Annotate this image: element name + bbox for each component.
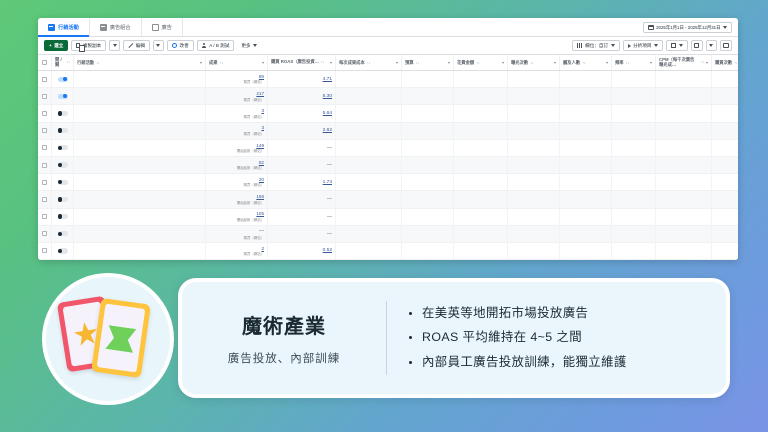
pencil-icon: [128, 43, 133, 48]
chevron-down-icon: [611, 44, 615, 47]
sort-icon[interactable]: ↑↓: [700, 60, 704, 64]
cell-result-type: 購買（網站）: [244, 182, 264, 187]
checkbox-icon[interactable]: [42, 248, 47, 253]
cell-results-value: —: [259, 228, 264, 234]
cell-roas: 5.64: [268, 105, 336, 121]
cell-impressions: [508, 105, 560, 121]
cell-results: 3購買（網站）: [206, 123, 268, 139]
cell-results: 89購買（網站）: [206, 71, 268, 87]
sort-icon[interactable]: ↑↓: [416, 61, 420, 65]
date-range-picker[interactable]: 2025年1月1日 - 2025年12月31日: [643, 22, 732, 33]
th-toggle[interactable]: 開 / 關 ↑↓: [52, 55, 74, 70]
th-toggle-label: 開 / 關: [55, 58, 64, 68]
cell-cost-per-result: [336, 71, 402, 87]
cell-budget: [402, 174, 454, 190]
sort-icon[interactable]: ↑↓: [476, 61, 480, 65]
columns-icon: [577, 43, 583, 48]
plus-icon: +: [49, 43, 52, 48]
cell-toggle[interactable]: [52, 243, 74, 259]
cell-result-type: 開始結帳（網站）: [237, 165, 264, 170]
cell-purchases: [712, 243, 738, 259]
case-study-title: 魔術產業: [192, 310, 376, 339]
copy-icon: [76, 43, 80, 48]
breakdown-icon: [628, 44, 631, 48]
cell-results-value[interactable]: 3: [261, 108, 264, 113]
cell-frequency: [612, 226, 656, 242]
cell-checkbox[interactable]: [38, 209, 52, 225]
table-row[interactable]: 3購買（網站）5.64: [38, 105, 738, 122]
sort-icon[interactable]: ↑↓: [530, 61, 534, 65]
cell-reach: [560, 191, 612, 207]
cell-purchases: [712, 71, 738, 87]
tab-campaigns[interactable]: 行銷活動: [38, 18, 90, 36]
more-label: 更多: [241, 43, 250, 49]
cell-cost-per-result: [336, 174, 402, 190]
breakdown-button[interactable]: 分析項目: [623, 40, 663, 51]
cell-cpm: [656, 243, 712, 259]
bullet-dot-icon: [409, 312, 412, 315]
bullet-text: ROAS 平均維持在 4~5 之間: [422, 328, 582, 347]
cell-campaign-name[interactable]: [74, 243, 206, 259]
bullet-text: 內部員工廣告投放訓練，能獨立維護: [422, 353, 627, 372]
cell-roas: 4.71: [268, 71, 336, 87]
cell-cost-per-result: [336, 140, 402, 156]
cell-budget: [402, 140, 454, 156]
magic-card-yellow-face: [97, 304, 146, 373]
cell-results: 20購買（網站）: [206, 174, 268, 190]
chevron-down-icon: [709, 44, 713, 47]
cell-roas-value[interactable]: 5.30: [323, 94, 332, 99]
cell-results-value[interactable]: 20: [259, 177, 264, 182]
cell-checkbox[interactable]: [38, 157, 52, 173]
cell-result-type: 購買（網站）: [244, 131, 264, 136]
th-cost-per-result-label: 每次成果成本: [339, 60, 365, 66]
table-row[interactable]: 105開始結帳（網站）—: [38, 209, 738, 226]
cell-result-type: 購買（網站）: [244, 235, 264, 240]
cell-spend: [454, 209, 508, 225]
cell-results-value[interactable]: 3: [261, 125, 264, 130]
cell-cost-per-result: [336, 243, 402, 259]
cell-impressions: [508, 123, 560, 139]
sort-icon[interactable]: ↑↓: [734, 61, 738, 65]
checkbox-icon[interactable]: [42, 214, 47, 219]
th-results[interactable]: 成果 ↑↓: [206, 55, 268, 70]
status-toggle[interactable]: [58, 214, 68, 219]
create-button[interactable]: + 建立: [44, 40, 68, 51]
th-results-label: 成果: [209, 60, 218, 66]
cell-budget: [402, 71, 454, 87]
cell-purchases: [712, 105, 738, 121]
th-campaign-name-label: 行銷活動: [77, 60, 94, 66]
cell-frequency: [612, 243, 656, 259]
cell-impressions: [508, 243, 560, 259]
chevron-down-icon: [113, 44, 117, 47]
cell-roas-value: —: [327, 145, 332, 151]
chevron-down-icon: [156, 44, 160, 47]
table-row[interactable]: 52開始結帳（網站）—: [38, 157, 738, 174]
status-toggle[interactable]: [58, 94, 68, 99]
th-purchases-label: 購買次數: [715, 60, 732, 66]
cell-purchases: [712, 123, 738, 139]
case-study-summary: 魔術產業 廣告投放、內部訓練: [182, 310, 386, 366]
cell-spend: [454, 71, 508, 87]
cell-spend: [454, 105, 508, 121]
cell-roas: 2.62: [268, 123, 336, 139]
cell-impressions: [508, 209, 560, 225]
cell-toggle[interactable]: [52, 105, 74, 121]
tab-ads-label: 廣告: [162, 24, 172, 31]
status-toggle[interactable]: [58, 128, 68, 133]
status-toggle[interactable]: [58, 180, 68, 185]
cell-result-type: 開始結帳（網站）: [237, 148, 264, 153]
cell-result-type: 購買（網站）: [244, 114, 264, 119]
cell-checkbox[interactable]: [38, 226, 52, 242]
cell-results: 3購買（網站）: [206, 105, 268, 121]
duplicate-label: 複製副本: [83, 43, 101, 49]
th-frequency[interactable]: 頻率 ↑↓: [612, 55, 656, 70]
checkbox-icon[interactable]: [42, 163, 47, 168]
tab-adsets[interactable]: 廣告組合: [90, 18, 142, 36]
edit-button[interactable]: 編輯: [123, 40, 150, 51]
six-point-star-icon: [105, 322, 137, 354]
table-row[interactable]: —購買（網站）—: [38, 226, 738, 243]
tab-adsets-label: 廣告組合: [110, 24, 131, 31]
cell-budget: [402, 243, 454, 259]
cell-frequency: [612, 105, 656, 121]
cell-roas: —: [268, 209, 336, 225]
cell-roas: 1.74: [268, 174, 336, 190]
adset-icon: [100, 24, 107, 31]
cell-result-type: 購買（網站）: [244, 251, 264, 256]
th-campaign-name[interactable]: 行銷活動 ↑↓: [74, 55, 206, 70]
cell-reach: [560, 157, 612, 173]
magic-cards-icon: [46, 277, 170, 401]
cell-cost-per-result: [336, 88, 402, 104]
th-frequency-label: 頻率: [615, 60, 624, 66]
tab-bar: 行銷活動 廣告組合 廣告 2025年1月1日 - 2025年12月31日: [38, 18, 738, 37]
case-study-card: 魔術產業 廣告投放、內部訓練 在美英等地開拓市場投放廣告ROAS 平均維持在 4…: [178, 278, 730, 398]
cell-purchases: [712, 191, 738, 207]
tab-campaigns-label: 行銷活動: [58, 24, 79, 31]
cell-results: 217購買（網站）: [206, 88, 268, 104]
th-cpm[interactable]: CPM（每千次廣告曝光成… ↑↓: [656, 55, 712, 70]
cell-roas: —: [268, 157, 336, 173]
cell-results-value[interactable]: 156: [256, 194, 264, 199]
cell-spend: [454, 243, 508, 259]
chevron-down-icon[interactable]: [606, 62, 608, 64]
improve-button[interactable]: 改善: [167, 40, 194, 51]
cell-toggle[interactable]: [52, 123, 74, 139]
cell-roas: —: [268, 140, 336, 156]
cell-impressions: [508, 88, 560, 104]
cell-roas-value: —: [327, 231, 332, 237]
cell-campaign-name[interactable]: [74, 174, 206, 190]
chevron-down-icon[interactable]: [200, 62, 202, 64]
chevron-down-icon: [723, 26, 727, 29]
more-button[interactable]: 更多: [237, 40, 261, 51]
th-impressions-label: 曝光次數: [511, 60, 528, 66]
cell-cost-per-result: [336, 226, 402, 242]
cell-campaign-name[interactable]: [74, 209, 206, 225]
table-header-row: 開 / 關 ↑↓ 行銷活動 ↑↓ 成果 ↑↓ 購買 ROAS（廣告投資… ↑↓ …: [38, 55, 738, 71]
checkbox-icon[interactable]: [42, 128, 47, 133]
cell-campaign-name[interactable]: [74, 105, 206, 121]
table-row[interactable]: 20購買（網站）1.74: [38, 174, 738, 191]
cell-roas-value: —: [327, 196, 332, 202]
cell-roas-value[interactable]: 2.62: [323, 128, 332, 133]
table-row[interactable]: 149開始結帳（網站）—: [38, 140, 738, 157]
cell-checkbox[interactable]: [38, 105, 52, 121]
cell-roas-value[interactable]: 4.71: [323, 77, 332, 82]
sort-icon[interactable]: ↑↓: [582, 61, 586, 65]
export-icon: [694, 43, 699, 48]
cell-toggle[interactable]: [52, 174, 74, 190]
chevron-down-icon[interactable]: [650, 62, 652, 64]
chevron-down-icon[interactable]: [262, 62, 264, 64]
cell-frequency: [612, 88, 656, 104]
cell-results-value[interactable]: 2: [261, 246, 264, 251]
cell-impressions: [508, 191, 560, 207]
cell-campaign-name[interactable]: [74, 191, 206, 207]
status-toggle[interactable]: [58, 197, 68, 202]
cell-results-value[interactable]: 149: [256, 143, 264, 148]
checkbox-icon[interactable]: [42, 111, 47, 116]
cell-reach: [560, 209, 612, 225]
th-select-all[interactable]: [38, 55, 52, 70]
cell-roas: 0.52: [268, 243, 336, 259]
cell-results-value[interactable]: 89: [259, 74, 264, 79]
sort-icon[interactable]: ↑↓: [626, 61, 630, 65]
cell-roas-value: —: [327, 214, 332, 220]
sort-icon[interactable]: ↑↓: [66, 60, 70, 64]
cell-purchases: [712, 226, 738, 242]
bullet-item: 內部員工廣告投放訓練，能獨立維護: [409, 353, 712, 372]
cell-cpm: [656, 191, 712, 207]
date-range-label: 2025年1月1日 - 2025年12月31日: [656, 25, 720, 31]
cell-checkbox[interactable]: [38, 123, 52, 139]
th-roas[interactable]: 購買 ROAS（廣告投資… ↑↓: [268, 55, 336, 70]
cell-reach: [560, 105, 612, 121]
cell-roas: —: [268, 226, 336, 242]
cell-impressions: [508, 226, 560, 242]
th-reach[interactable]: 觸及人數 ↑↓: [560, 55, 612, 70]
checkbox-icon[interactable]: [42, 197, 47, 202]
cell-cpm: [656, 71, 712, 87]
cell-checkbox[interactable]: [38, 88, 52, 104]
improve-icon: [172, 43, 177, 48]
cell-result-type: 購買（網站）: [244, 97, 264, 102]
cell-budget: [402, 105, 454, 121]
cell-toggle[interactable]: [52, 88, 74, 104]
th-spend[interactable]: 花費金額 ↑↓: [454, 55, 508, 70]
chevron-down-icon[interactable]: [554, 62, 556, 64]
cell-checkbox[interactable]: [38, 191, 52, 207]
cell-results: 2購買（網站）: [206, 243, 268, 259]
cell-roas-value: —: [327, 162, 332, 168]
cell-roas-value[interactable]: 1.74: [323, 180, 332, 185]
cell-frequency: [612, 191, 656, 207]
cell-frequency: [612, 174, 656, 190]
cell-impressions: [508, 71, 560, 87]
cell-toggle[interactable]: [52, 226, 74, 242]
table-row[interactable]: 156開始結帳（網站）—: [38, 191, 738, 208]
th-spend-label: 花費金額: [457, 60, 474, 66]
status-toggle[interactable]: [58, 111, 68, 116]
cell-cpm: [656, 88, 712, 104]
chevron-down-icon: [679, 44, 683, 47]
cell-checkbox[interactable]: [38, 174, 52, 190]
cell-impressions: [508, 174, 560, 190]
cell-checkbox[interactable]: [38, 71, 52, 87]
cell-results-value[interactable]: 52: [259, 160, 264, 165]
cell-spend: [454, 140, 508, 156]
refresh-icon: [723, 43, 729, 49]
cell-cost-per-result: [336, 157, 402, 173]
th-cpm-label: CPM（每千次廣告曝光成…: [659, 58, 698, 68]
cell-spend: [454, 123, 508, 139]
cell-budget: [402, 88, 454, 104]
edit-dropdown[interactable]: [153, 40, 164, 51]
cell-cpm: [656, 105, 712, 121]
cell-cpm: [656, 209, 712, 225]
cell-results: 149開始結帳（網站）: [206, 140, 268, 156]
cell-results: —購買（網站）: [206, 226, 268, 242]
cell-purchases: [712, 140, 738, 156]
bullet-dot-icon: [409, 336, 412, 339]
bullet-item: 在美英等地開拓市場投放廣告: [409, 304, 712, 323]
th-impressions[interactable]: 曝光次數 ↑↓: [508, 55, 560, 70]
table-row[interactable]: 89購買（網站）4.71: [38, 71, 738, 88]
checkbox-icon[interactable]: [42, 94, 47, 99]
cell-purchases: [712, 209, 738, 225]
cell-results: 105開始結帳（網站）: [206, 209, 268, 225]
cell-toggle[interactable]: [52, 209, 74, 225]
cell-cost-per-result: [336, 191, 402, 207]
cell-results-value[interactable]: 105: [256, 211, 264, 216]
cell-roas: —: [268, 191, 336, 207]
magic-card-yellow: [91, 298, 151, 378]
cell-campaign-name[interactable]: [74, 157, 206, 173]
status-toggle[interactable]: [58, 231, 68, 236]
status-toggle[interactable]: [58, 248, 68, 253]
cell-cpm: [656, 157, 712, 173]
cell-cpm: [656, 140, 712, 156]
sort-icon[interactable]: ↑↓: [321, 60, 325, 64]
duplicate-button[interactable]: 複製副本: [71, 40, 106, 51]
export-dropdown[interactable]: [706, 40, 717, 51]
cell-impressions: [508, 140, 560, 156]
cell-campaign-name[interactable]: [74, 123, 206, 139]
table-body: 89購買（網站）4.71217購買（網站）5.303購買（網站）5.643購買（…: [38, 71, 738, 260]
cell-frequency: [612, 140, 656, 156]
table-row[interactable]: 2購買（網站）0.52: [38, 243, 738, 260]
create-label: 建立: [54, 43, 63, 49]
export-button[interactable]: [691, 40, 703, 51]
cell-frequency: [612, 157, 656, 173]
reports-button[interactable]: [666, 40, 688, 51]
th-reach-label: 觸及人數: [563, 60, 580, 66]
cell-campaign-name[interactable]: [74, 140, 206, 156]
cell-cost-per-result: [336, 105, 402, 121]
cell-roas: 5.30: [268, 88, 336, 104]
columns-button[interactable]: 欄位：自訂: [572, 40, 620, 51]
chevron-down-icon[interactable]: [502, 62, 504, 64]
cell-spend: [454, 174, 508, 190]
status-toggle[interactable]: [58, 77, 68, 82]
chevron-down-icon[interactable]: [396, 62, 398, 64]
cell-checkbox[interactable]: [38, 140, 52, 156]
cell-cpm: [656, 226, 712, 242]
checkbox-icon[interactable]: [42, 231, 47, 236]
ab-test-button[interactable]: A / B 測試: [197, 40, 235, 51]
chevron-down-icon[interactable]: [330, 62, 332, 64]
status-toggle[interactable]: [58, 162, 68, 167]
sort-icon[interactable]: ↑↓: [220, 61, 224, 65]
cell-toggle[interactable]: [52, 191, 74, 207]
cell-result-type: 購買（網站）: [244, 79, 264, 84]
th-budget[interactable]: 預算 ↑↓: [402, 55, 454, 70]
refresh-button[interactable]: [720, 40, 733, 51]
reports-icon: [671, 43, 676, 48]
duplicate-dropdown[interactable]: [109, 40, 120, 51]
checkbox-icon[interactable]: [42, 180, 47, 185]
cell-checkbox[interactable]: [38, 243, 52, 259]
cell-spend: [454, 191, 508, 207]
cell-toggle[interactable]: [52, 71, 74, 87]
tab-ads[interactable]: 廣告: [142, 18, 183, 36]
checkbox-icon[interactable]: [42, 145, 47, 150]
checkbox-icon[interactable]: [42, 77, 47, 82]
ad-icon: [152, 24, 159, 31]
chevron-down-icon[interactable]: [448, 62, 450, 64]
breakdown-label: 分析項目: [633, 43, 651, 49]
th-budget-label: 預算: [405, 60, 414, 66]
status-toggle[interactable]: [58, 145, 68, 150]
cell-result-type: 開始結帳（網站）: [237, 217, 264, 222]
cell-purchases: [712, 174, 738, 190]
sort-icon[interactable]: ↑↓: [96, 61, 100, 65]
improve-label: 改善: [179, 43, 188, 49]
cell-toggle[interactable]: [52, 140, 74, 156]
cell-campaign-name[interactable]: [74, 71, 206, 87]
cell-result-type: 開始結帳（網站）: [237, 200, 264, 205]
sort-icon[interactable]: ↑↓: [367, 61, 371, 65]
chevron-down-icon[interactable]: [706, 62, 708, 64]
cell-roas-value[interactable]: 5.64: [323, 111, 332, 116]
table-row[interactable]: 3購買（網站）2.62: [38, 123, 738, 140]
cell-budget: [402, 226, 454, 242]
cell-cpm: [656, 174, 712, 190]
toolbar: + 建立 複製副本 編輯 改善 A / B 測試 更多: [38, 37, 738, 55]
cell-roas-value[interactable]: 0.52: [323, 248, 332, 253]
cell-cost-per-result: [336, 209, 402, 225]
columns-label: 欄位：自訂: [585, 43, 608, 49]
table-row[interactable]: 217購買（網站）5.30: [38, 88, 738, 105]
th-purchases[interactable]: 購買次數 ↑↓: [712, 55, 738, 70]
cell-spend: [454, 226, 508, 242]
cell-results: 52開始結帳（網站）: [206, 157, 268, 173]
cell-toggle[interactable]: [52, 157, 74, 173]
cell-campaign-name[interactable]: [74, 88, 206, 104]
cell-results-value[interactable]: 217: [256, 91, 264, 96]
th-cost-per-result[interactable]: 每次成果成本 ↑↓: [336, 55, 402, 70]
cell-reach: [560, 226, 612, 242]
checkbox-icon[interactable]: [42, 60, 47, 65]
cell-purchases: [712, 157, 738, 173]
calendar-icon: [648, 25, 654, 31]
cell-campaign-name[interactable]: [74, 226, 206, 242]
cell-purchases: [712, 88, 738, 104]
